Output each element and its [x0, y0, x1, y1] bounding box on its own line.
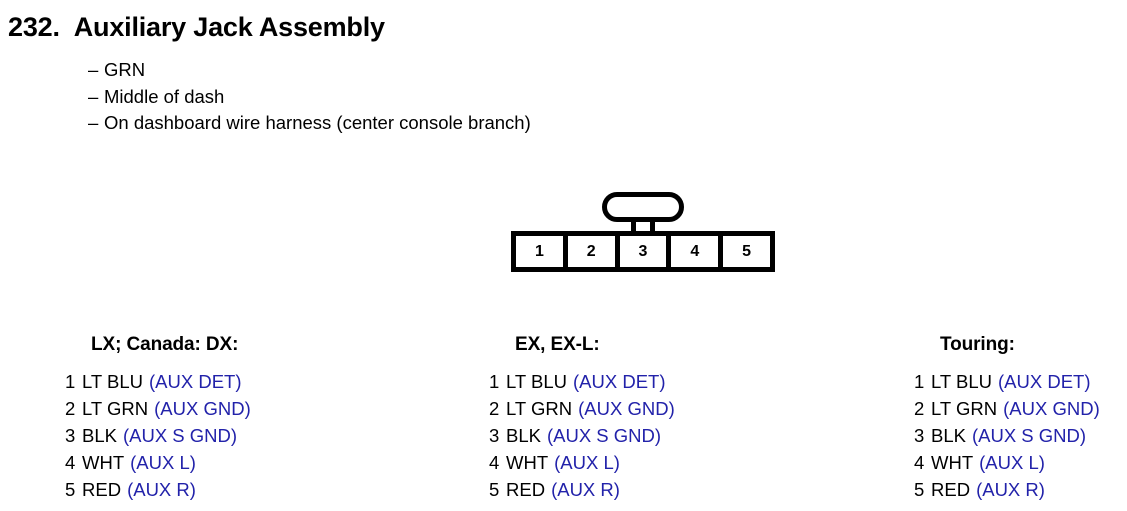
pin-number: 1: [65, 368, 82, 395]
note-text: GRN: [104, 57, 145, 84]
connector-latch-tab-icon: [602, 192, 684, 222]
pin-signal-name: (AUX R): [976, 476, 1045, 503]
pin-number: 1: [489, 368, 506, 395]
note-item: – Middle of dash: [88, 84, 531, 111]
pin-number: 5: [914, 476, 931, 503]
pinout-column-lx-canada-dx: LX; Canada: DX: 1 LT BLU (AUX DET) 2 LT …: [65, 334, 251, 503]
pin-signal-name: (AUX DET): [149, 368, 242, 395]
pinout-column-touring: Touring: 1 LT BLU (AUX DET) 2 LT GRN (AU…: [914, 334, 1100, 503]
pin-number: 4: [489, 449, 506, 476]
page-heading: 232. Auxiliary Jack Assembly: [8, 12, 385, 43]
pin-row: 1 LT BLU (AUX DET): [65, 368, 251, 395]
connector-pin-5: 5: [723, 236, 770, 267]
pin-number: 5: [65, 476, 82, 503]
connector-pin-1: 1: [516, 236, 568, 267]
note-item: – GRN: [88, 57, 531, 84]
pin-wire-color: BLK: [931, 422, 966, 449]
pin-signal-name: (AUX L): [979, 449, 1045, 476]
pin-signal-name: (AUX L): [130, 449, 196, 476]
pin-signal-name: (AUX S GND): [972, 422, 1086, 449]
notes-list: – GRN – Middle of dash – On dashboard wi…: [88, 57, 531, 137]
section-number: 232.: [8, 12, 60, 43]
pin-wire-color: RED: [506, 476, 545, 503]
pin-row: 4 WHT (AUX L): [65, 449, 251, 476]
pin-number: 3: [914, 422, 931, 449]
pin-row: 5 RED (AUX R): [914, 476, 1100, 503]
pin-wire-color: BLK: [82, 422, 117, 449]
note-item: – On dashboard wire harness (center cons…: [88, 110, 531, 137]
connector-body: 1 2 3 4 5: [511, 231, 775, 272]
pin-signal-name: (AUX DET): [998, 368, 1091, 395]
pin-number: 2: [489, 395, 506, 422]
pin-row: 5 RED (AUX R): [65, 476, 251, 503]
pin-number: 4: [914, 449, 931, 476]
note-text: Middle of dash: [104, 84, 224, 111]
connector-pin-2: 2: [568, 236, 620, 267]
dash-marker: –: [88, 57, 104, 84]
pin-signal-name: (AUX S GND): [123, 422, 237, 449]
pinout-column-ex-exl: EX, EX-L: 1 LT BLU (AUX DET) 2 LT GRN (A…: [489, 334, 675, 503]
pin-wire-color: WHT: [506, 449, 548, 476]
pin-number: 1: [914, 368, 931, 395]
page-title: Auxiliary Jack Assembly: [74, 12, 385, 43]
pin-row: 2 LT GRN (AUX GND): [914, 395, 1100, 422]
pin-row: 1 LT BLU (AUX DET): [914, 368, 1100, 395]
pin-wire-color: LT GRN: [506, 395, 572, 422]
pin-number: 3: [489, 422, 506, 449]
connector-pin-4: 4: [671, 236, 723, 267]
pin-signal-name: (AUX L): [554, 449, 620, 476]
column-header: LX; Canada: DX:: [91, 334, 251, 356]
dash-marker: –: [88, 84, 104, 111]
pin-row: 2 LT GRN (AUX GND): [65, 395, 251, 422]
pin-signal-name: (AUX R): [127, 476, 196, 503]
pin-number: 5: [489, 476, 506, 503]
pin-number: 2: [65, 395, 82, 422]
connector-pin-3: 3: [620, 236, 672, 267]
pin-row: 3 BLK (AUX S GND): [65, 422, 251, 449]
pin-row: 1 LT BLU (AUX DET): [489, 368, 675, 395]
pin-wire-color: RED: [931, 476, 970, 503]
pin-row: 4 WHT (AUX L): [489, 449, 675, 476]
pin-row: 2 LT GRN (AUX GND): [489, 395, 675, 422]
column-header: EX, EX-L:: [515, 334, 675, 356]
pin-wire-color: LT BLU: [506, 368, 567, 395]
pin-row: 3 BLK (AUX S GND): [914, 422, 1100, 449]
pin-wire-color: LT BLU: [931, 368, 992, 395]
note-text: On dashboard wire harness (center consol…: [104, 110, 531, 137]
pin-wire-color: WHT: [931, 449, 973, 476]
pin-wire-color: LT BLU: [82, 368, 143, 395]
pin-row: 4 WHT (AUX L): [914, 449, 1100, 476]
pin-number: 4: [65, 449, 82, 476]
pin-wire-color: BLK: [506, 422, 541, 449]
pin-signal-name: (AUX GND): [1003, 395, 1100, 422]
pin-signal-name: (AUX DET): [573, 368, 666, 395]
pin-signal-name: (AUX GND): [578, 395, 675, 422]
pin-number: 3: [65, 422, 82, 449]
connector-diagram: 1 2 3 4 5: [511, 192, 775, 272]
pin-number: 2: [914, 395, 931, 422]
pin-signal-name: (AUX S GND): [547, 422, 661, 449]
pin-row: 5 RED (AUX R): [489, 476, 675, 503]
pin-wire-color: WHT: [82, 449, 124, 476]
dash-marker: –: [88, 110, 104, 137]
pin-signal-name: (AUX GND): [154, 395, 251, 422]
pin-wire-color: LT GRN: [931, 395, 997, 422]
column-header: Touring:: [940, 334, 1100, 356]
pin-row: 3 BLK (AUX S GND): [489, 422, 675, 449]
pin-signal-name: (AUX R): [551, 476, 620, 503]
pin-wire-color: RED: [82, 476, 121, 503]
pin-wire-color: LT GRN: [82, 395, 148, 422]
